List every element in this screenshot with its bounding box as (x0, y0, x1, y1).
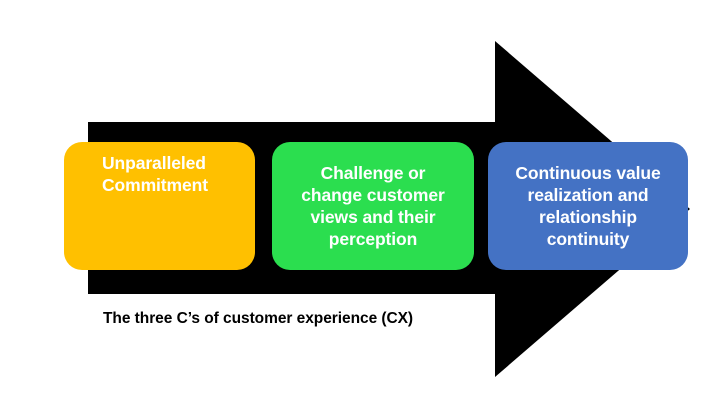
diagram-caption: The three C’s of customer experience (CX… (103, 310, 413, 328)
stage-box-commitment[interactable]: Unparalleled Commitment (64, 142, 255, 270)
stage-label-challenge: Challenge or change customer views and t… (301, 162, 444, 250)
stage-label-commitment: Unparalleled Commitment (102, 152, 208, 196)
stage-box-continuous[interactable]: Continuous value realization and relatio… (488, 142, 688, 270)
stage-box-challenge[interactable]: Challenge or change customer views and t… (272, 142, 474, 270)
stage-label-continuous: Continuous value realization and relatio… (515, 162, 660, 250)
diagram-canvas: Unparalleled Commitment Challenge or cha… (0, 0, 717, 409)
